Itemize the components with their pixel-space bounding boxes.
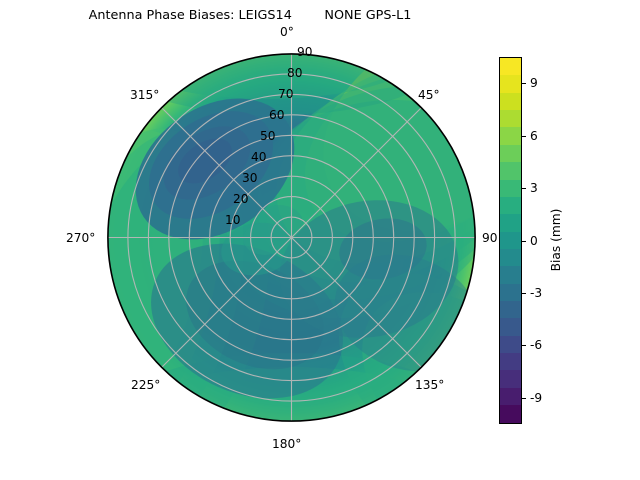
angular-tick-315: 315° [130,88,159,102]
radial-tick-10: 10 [225,213,241,227]
radial-tick-30: 30 [242,171,258,185]
colorbar-band-3 [500,353,521,370]
colorbar-band-10 [500,232,521,249]
radial-tick-40: 40 [251,150,267,164]
colorbar-band-20 [500,58,521,75]
angular-tick-45: 45° [418,88,440,102]
colorbar-band-15 [500,145,521,162]
colorbar-band-16 [500,127,521,144]
radial-tick-50: 50 [260,129,276,143]
radial-tick-90: 90 [297,45,313,59]
colorbar-band-13 [500,180,521,197]
radial-tick-20: 20 [233,192,249,206]
angular-tick-90: 90 [482,231,498,245]
colorbar-tick-label-9: 9 [530,76,538,90]
colorbar-tick-label-neg6: -6 [530,338,542,352]
angular-tick-180: 180° [272,437,301,451]
colorbar-tick-mark-neg9 [522,398,526,399]
colorbar-axis-label: Bias (mm) [549,209,563,272]
angular-tick-270: 270° [66,231,95,245]
colorbar-tick-mark-6 [522,136,526,137]
colorbar-tick-mark-9 [522,83,526,84]
angular-tick-135: 135° [415,378,444,392]
colorbar-tick-mark-neg6 [522,345,526,346]
colorbar-tick-mark-0 [522,241,526,242]
polar-axes[interactable]: 10 20 30 40 50 60 70 80 90 [107,53,476,422]
figure-canvas: Antenna Phase Biases: LEIGS14 NONE GPS-L… [0,0,640,480]
colorbar-band-11 [500,214,521,231]
colorbar-tick-mark-neg3 [522,293,526,294]
colorbar-band-4 [500,336,521,353]
colorbar-band-14 [500,162,521,179]
page-title: Antenna Phase Biases: LEIGS14 NONE GPS-L… [0,8,500,23]
colorbar-band-19 [500,75,521,92]
colorbar-tick-label-6: 6 [530,129,538,143]
colorbar-band-0 [500,405,521,422]
angular-tick-0: 0° [280,25,294,39]
colorbar-gradient [499,57,522,424]
colorbar-band-7 [500,284,521,301]
colorbar-band-8 [500,266,521,283]
colorbar-tick-label-3: 3 [530,181,538,195]
radial-tick-70: 70 [278,87,294,101]
colorbar-tick-mark-3 [522,188,526,189]
radial-tick-60: 60 [269,108,285,122]
colorbar-tick-label-neg9: -9 [530,391,542,405]
angular-tick-225: 225° [131,378,160,392]
polar-grid [108,54,476,422]
colorbar-band-17 [500,110,521,127]
colorbar-band-1 [500,388,521,405]
colorbar-band-2 [500,370,521,387]
colorbar-band-12 [500,197,521,214]
radial-tick-80: 80 [287,66,303,80]
polar-contour-plot [107,53,476,422]
colorbar-tick-label-0: 0 [530,234,538,248]
colorbar-band-18 [500,93,521,110]
colorbar-band-5 [500,318,521,335]
colorbar-band-6 [500,301,521,318]
colorbar-band-9 [500,249,521,266]
colorbar-tick-label-neg3: -3 [530,286,542,300]
colorbar[interactable]: 9 6 3 0 -3 -6 -9 [499,57,522,424]
